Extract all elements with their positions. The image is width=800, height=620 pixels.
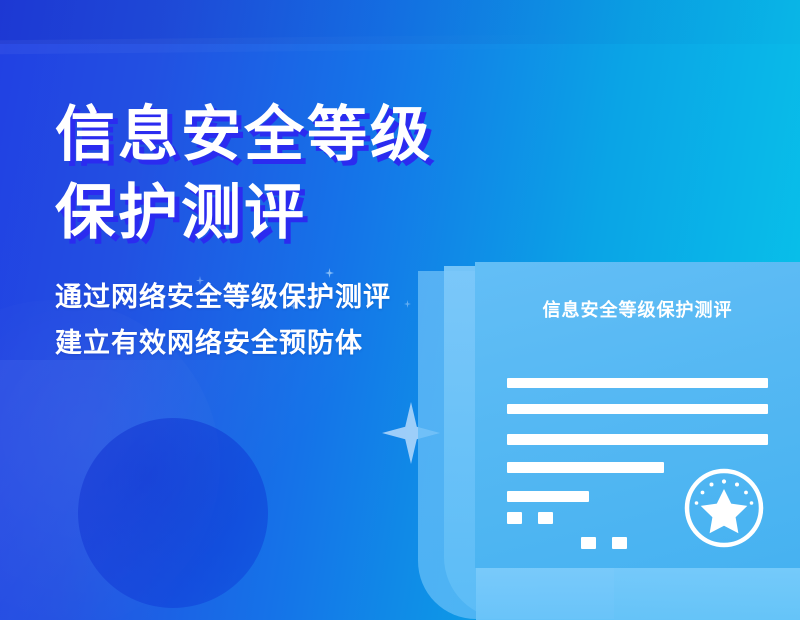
- certificate-illustration: 信息安全等级保护测评: [418, 262, 800, 620]
- certificate-square-mark: [538, 512, 553, 524]
- diagonal-sheen: [0, 360, 420, 620]
- headline-line-1: 信息安全等级: [55, 96, 575, 174]
- certificate-lower-panel: [476, 562, 800, 620]
- certificate-line: [507, 462, 664, 473]
- certificate-square-mark: [581, 537, 596, 549]
- headline-line-2: 保护测评: [55, 174, 575, 252]
- certificate-card: 信息安全等级保护测评: [475, 262, 800, 568]
- certificate-line: [507, 378, 768, 388]
- certificate-line: [507, 404, 768, 414]
- band-edge-highlight: [0, 31, 800, 54]
- decorative-circle: [78, 418, 268, 608]
- certificate-square-mark: [507, 512, 522, 524]
- certificate-title: 信息安全等级保护测评: [475, 296, 800, 322]
- certificate-square-mark: [612, 537, 627, 549]
- certificate-line: [507, 434, 768, 445]
- certificate-line: [507, 491, 589, 502]
- promo-banner: 信息安全等级 保护测评 通过网络安全等级保护测评 建立有效网络安全预防体 信息安…: [0, 0, 800, 620]
- star-circle-badge-icon: [681, 465, 767, 551]
- top-gradient-band: [0, 0, 800, 44]
